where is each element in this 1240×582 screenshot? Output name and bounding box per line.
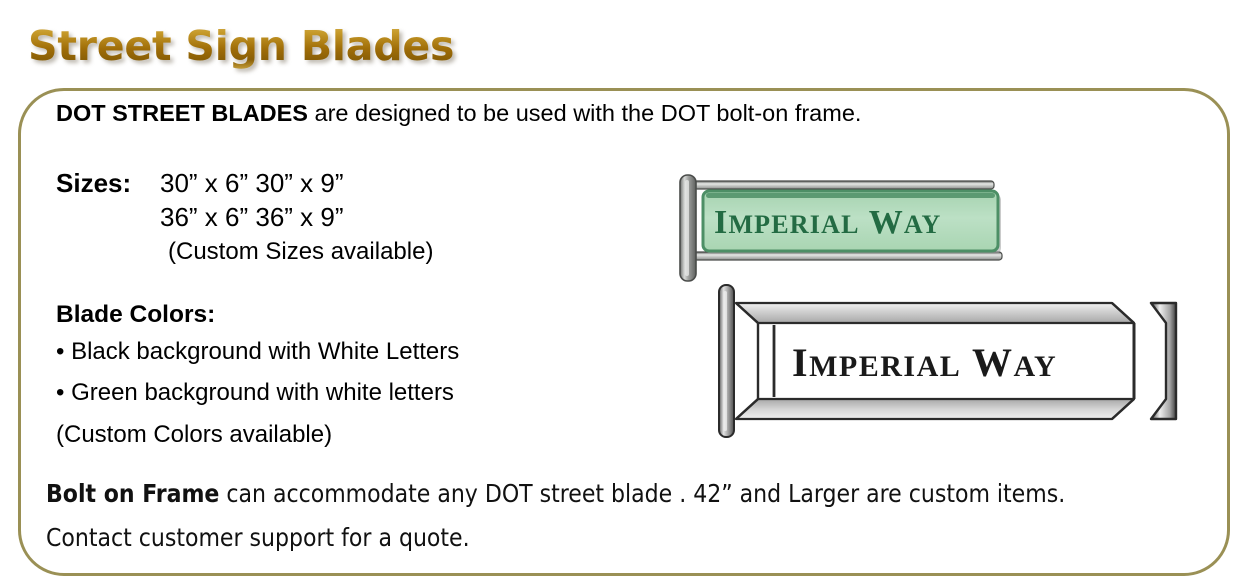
intro-line: DOT STREET BLADES are designed to be use… [56, 100, 716, 127]
intro-rest: are designed to be used with the DOT bol… [308, 100, 861, 126]
frame-bottom-rail [736, 399, 1134, 419]
blade-colors-block: Blade Colors: • Black background with Wh… [56, 300, 459, 455]
text-column: DOT STREET BLADES are designed to be use… [56, 100, 716, 127]
blade-colors-heading: Blade Colors: [56, 300, 459, 331]
sizes-custom-note: (Custom Sizes available) [56, 235, 433, 269]
bolt-on-frame-image: IMPERIAL WAY [714, 281, 1184, 446]
sizes-label: Sizes: [56, 166, 160, 200]
frame-end-cap [1151, 303, 1176, 419]
frame-top-rail [736, 303, 1134, 323]
green-sign-text: IMPERIAL WAY [714, 204, 942, 241]
intro-bold-lead: DOT STREET BLADES [56, 100, 308, 126]
green-street-sign-image: IMPERIAL WAY [676, 172, 1026, 289]
sizes-row-2: 36” x 6” 36” x 9” [56, 200, 433, 234]
frame-note-bold-lead: Bolt on Frame [46, 479, 219, 508]
sizes-block: Sizes:30” x 6” 30” x 9” 36” x 6” 36” x 9… [56, 166, 433, 268]
sizes-value-1: 30” x 6” 30” x 9” [160, 168, 344, 198]
page-title: Street Sign Blades [28, 22, 454, 70]
sizes-value-2: 36” x 6” 36” x 9” [160, 202, 344, 232]
sizes-row-1: Sizes:30” x 6” 30” x 9” [56, 166, 433, 200]
blade-colors-custom-note: (Custom Colors available) [56, 414, 459, 456]
green-street-sign-icon: IMPERIAL WAY [676, 172, 1026, 284]
blade-color-item-black: • Black background with White Letters [56, 331, 459, 373]
bolt-on-frame-note: Bolt on Frame can accommodate any DOT st… [46, 472, 1126, 559]
bolt-on-frame-icon: IMPERIAL WAY [714, 281, 1184, 441]
blade-color-item-green: • Green background with white letters [56, 372, 459, 414]
